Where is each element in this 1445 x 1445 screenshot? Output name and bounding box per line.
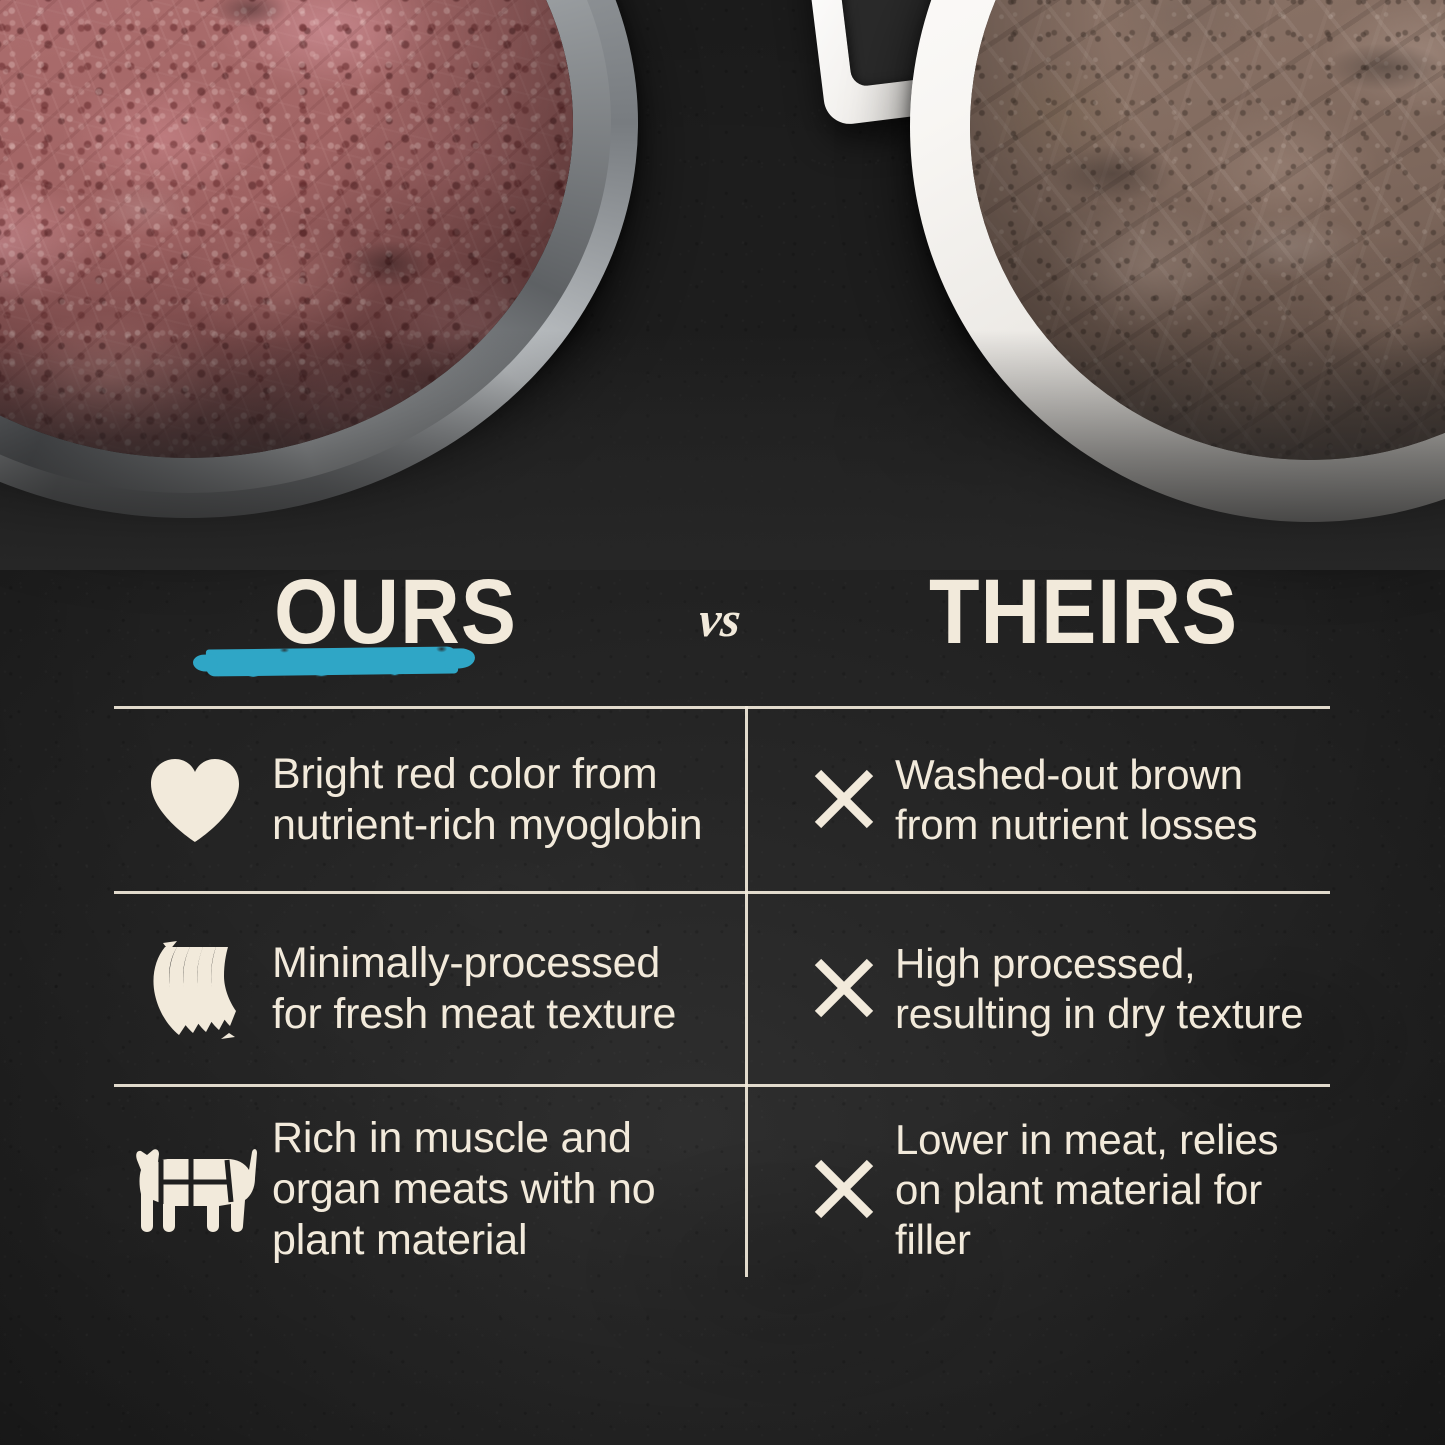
steel-bowl-cavity xyxy=(0,0,573,458)
table-row: Rich in muscle and organ meats with no p… xyxy=(114,1087,1330,1292)
table-cell-text: Bright red color from nutrient-rich myog… xyxy=(272,749,711,851)
table-cell-text: Lower in meat, relies on plant material … xyxy=(895,1115,1320,1265)
table-cell-ours: Bright red color from nutrient-rich myog… xyxy=(114,709,745,891)
heading-vs: vs xyxy=(696,594,743,644)
table-cell-theirs: High processed, resulting in dry texture xyxy=(745,894,1330,1084)
table-cell-ours: Rich in muscle and organ meats with no p… xyxy=(114,1087,745,1292)
table-cell-theirs: Washed-out brown from nutrient losses xyxy=(745,709,1330,891)
table-rule-2 xyxy=(114,1084,1330,1087)
ceramic-dish-body xyxy=(910,0,1445,522)
ceramic-dish-well xyxy=(970,0,1445,460)
processed-brown-paste xyxy=(970,0,1445,460)
table-row: Bright red color from nutrient-rich myog… xyxy=(114,709,1330,891)
product-photo-zone xyxy=(0,0,1445,560)
comparison-table: Bright red color from nutrient-rich myog… xyxy=(114,706,1330,1292)
heart-icon xyxy=(118,756,272,844)
heading-theirs: THEIRS xyxy=(929,566,1238,658)
table-rule-1 xyxy=(114,891,1330,894)
table-cell-text: Washed-out brown from nutrient losses xyxy=(895,750,1320,850)
table-cell-theirs: Lower in meat, relies on plant material … xyxy=(745,1087,1330,1292)
table-cell-ours: Minimally-processed for fresh meat textu… xyxy=(114,894,745,1084)
table-column-divider xyxy=(745,706,748,1277)
x-mark-icon xyxy=(791,1159,895,1221)
table-rule-top xyxy=(114,706,1330,709)
muscle-fiber-icon xyxy=(118,937,272,1041)
steel-bowl-ours-photo xyxy=(0,0,638,518)
comparison-headings: OURS vs THEIRS xyxy=(114,566,1330,686)
table-cell-text: Rich in muscle and organ meats with no p… xyxy=(272,1113,711,1266)
cow-butcher-cuts-icon xyxy=(118,1138,272,1242)
x-mark-icon xyxy=(791,769,895,831)
x-mark-icon xyxy=(791,958,895,1020)
table-cell-text: High processed, resulting in dry texture xyxy=(895,939,1320,1039)
ceramic-dish-theirs-photo xyxy=(910,0,1445,522)
infographic-canvas: OURS vs THEIRS Bright red color from nut… xyxy=(0,0,1445,1445)
table-cell-text: Minimally-processed for fresh meat textu… xyxy=(272,938,711,1040)
heading-ours: OURS xyxy=(274,566,517,658)
table-row: Minimally-processed for fresh meat textu… xyxy=(114,894,1330,1084)
raw-red-ground-meat xyxy=(0,0,573,458)
